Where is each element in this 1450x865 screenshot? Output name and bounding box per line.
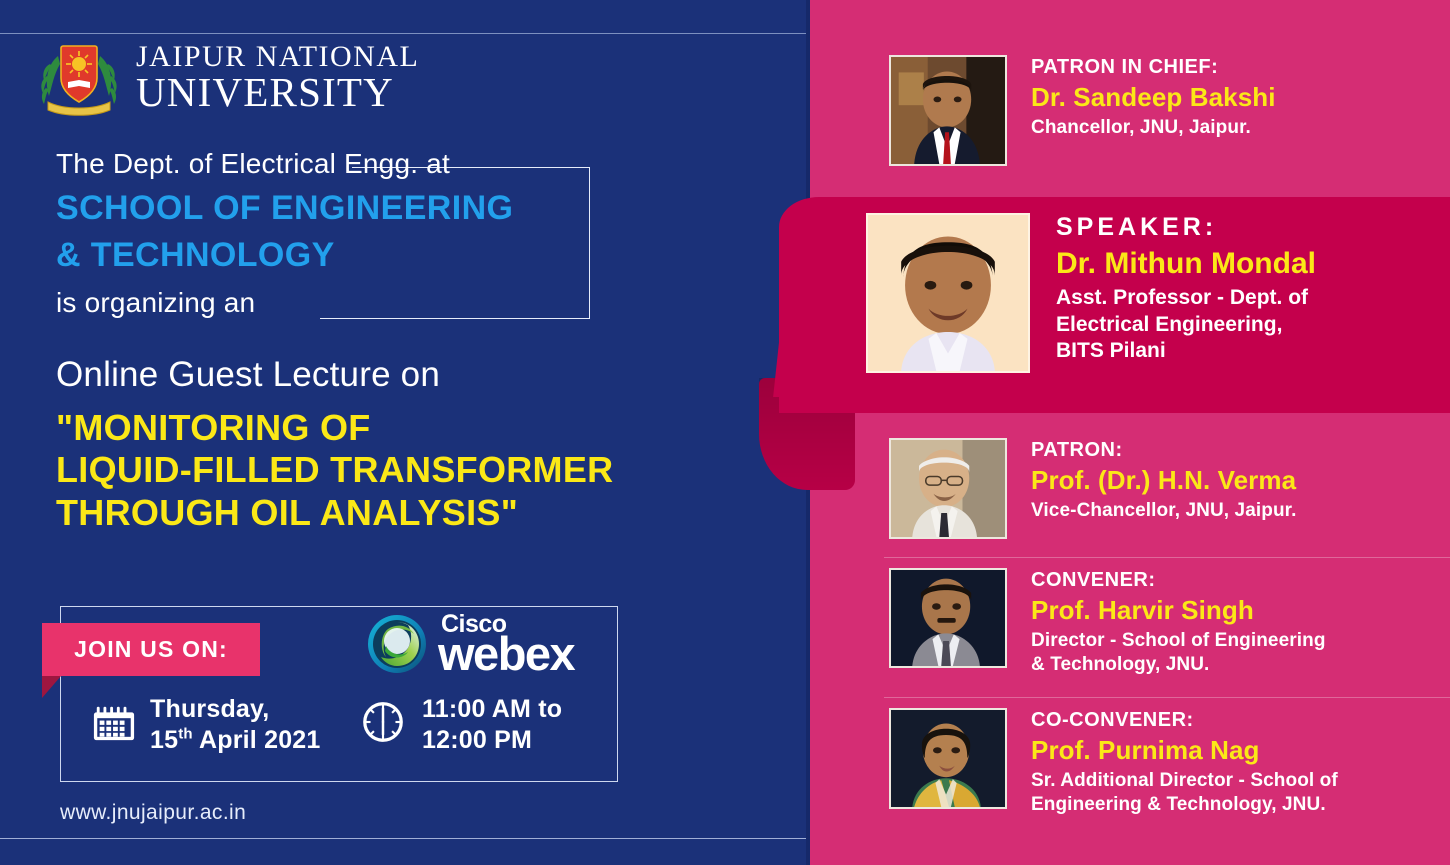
- person-name: Dr. Sandeep Bakshi: [1031, 82, 1276, 113]
- webex-logo-icon: [366, 613, 428, 675]
- person-role: SPEAKER:: [1056, 213, 1316, 242]
- event-title-line-1: "MONITORING OF: [56, 407, 756, 449]
- person-role: CONVENER:: [1031, 568, 1326, 592]
- intro-line-1: The Dept. of Electrical Engg. at: [56, 146, 616, 182]
- person-divider: [884, 697, 1450, 698]
- person-desc-1: Vice-Chancellor, JNU, Jaipur.: [1031, 499, 1297, 523]
- event-time-line-1: 11:00 AM to: [422, 694, 562, 725]
- intro-line-2: is organizing an: [56, 285, 616, 321]
- person-name: Prof. (Dr.) H.N. Verma: [1031, 465, 1297, 496]
- event-time-row: 11:00 AM to 12:00 PM: [360, 694, 562, 755]
- person-divider: [884, 557, 1450, 558]
- event-date-suffix: th: [178, 725, 193, 742]
- event-type-label: Online Guest Lecture on: [56, 355, 756, 395]
- event-poster: JAIPUR NATIONAL UNIVERSITY The Dept. of …: [0, 0, 1450, 865]
- person-role: PATRON:: [1031, 438, 1297, 462]
- webex-logo: Cisco webex: [366, 613, 574, 675]
- person-desc-1: Asst. Professor - Dept. of: [1056, 285, 1316, 311]
- logo-line-1: JAIPUR NATIONAL: [136, 43, 419, 71]
- person-desc-1: Sr. Additional Director - School of: [1031, 769, 1338, 793]
- website-url[interactable]: www.jnujaipur.ac.in: [60, 801, 246, 825]
- person-convener: CONVENER: Prof. Harvir Singh Director - …: [889, 568, 1326, 677]
- logo-line-2: UNIVERSITY: [136, 73, 419, 112]
- bottom-rule: [0, 838, 806, 839]
- person-patron-in-chief: PATRON IN CHIEF: Dr. Sandeep Bakshi Chan…: [889, 55, 1276, 166]
- person-name: Prof. Purnima Nag: [1031, 735, 1338, 766]
- event-date-row: Thursday, 15th April 2021: [92, 694, 321, 755]
- event-date-day: 15: [150, 726, 178, 754]
- webex-wordmark: webex: [438, 635, 574, 674]
- clock-icon: [360, 699, 406, 750]
- person-desc-1: Director - School of Engineering: [1031, 629, 1326, 653]
- portrait-photo: [889, 55, 1007, 166]
- portrait-photo: [889, 708, 1007, 809]
- event-date-weekday: Thursday,: [150, 694, 321, 725]
- calendar-icon: [92, 700, 136, 749]
- event-title-line-2: LIQUID-FILLED TRANSFORMER: [56, 449, 756, 491]
- person-patron: PATRON: Prof. (Dr.) H.N. Verma Vice-Chan…: [889, 438, 1297, 539]
- person-desc-1: Chancellor, JNU, Jaipur.: [1031, 116, 1276, 140]
- person-desc-2: & Technology, JNU.: [1031, 653, 1326, 677]
- join-us-ribbon: JOIN US ON:: [42, 623, 260, 676]
- person-co-convener: CO-CONVENER: Prof. Purnima Nag Sr. Addit…: [889, 708, 1338, 817]
- event-title-line-3: THROUGH OIL ANALYSIS": [56, 492, 756, 534]
- school-name-line-2: & TECHNOLOGY: [56, 235, 616, 276]
- event-title: "MONITORING OF LIQUID-FILLED TRANSFORMER…: [56, 407, 756, 534]
- university-logo: JAIPUR NATIONAL UNIVERSITY: [36, 34, 419, 120]
- person-role: CO-CONVENER:: [1031, 708, 1338, 732]
- event-date-month-year: April 2021: [193, 726, 321, 754]
- portrait-photo: [866, 213, 1030, 373]
- event-date-full: 15th April 2021: [150, 725, 321, 756]
- person-speaker: SPEAKER: Dr. Mithun Mondal Asst. Profess…: [866, 213, 1316, 373]
- person-desc-2: Engineering & Technology, JNU.: [1031, 793, 1338, 817]
- person-desc-2: Electrical Engineering,: [1056, 312, 1316, 338]
- join-us-label: JOIN US ON:: [74, 636, 228, 663]
- university-crest-icon: [36, 34, 122, 120]
- person-role: PATRON IN CHIEF:: [1031, 55, 1276, 79]
- portrait-photo: [889, 568, 1007, 668]
- event-title-block: Online Guest Lecture on "MONITORING OF L…: [56, 355, 756, 534]
- portrait-photo: [889, 438, 1007, 539]
- person-desc-3: BITS Pilani: [1056, 338, 1316, 364]
- person-name: Prof. Harvir Singh: [1031, 595, 1326, 626]
- intro-block: The Dept. of Electrical Engg. at SCHOOL …: [56, 146, 616, 321]
- school-name-line-1: SCHOOL OF ENGINEERING: [56, 188, 616, 229]
- person-name: Dr. Mithun Mondal: [1056, 246, 1316, 281]
- event-time-line-2: 12:00 PM: [422, 725, 562, 756]
